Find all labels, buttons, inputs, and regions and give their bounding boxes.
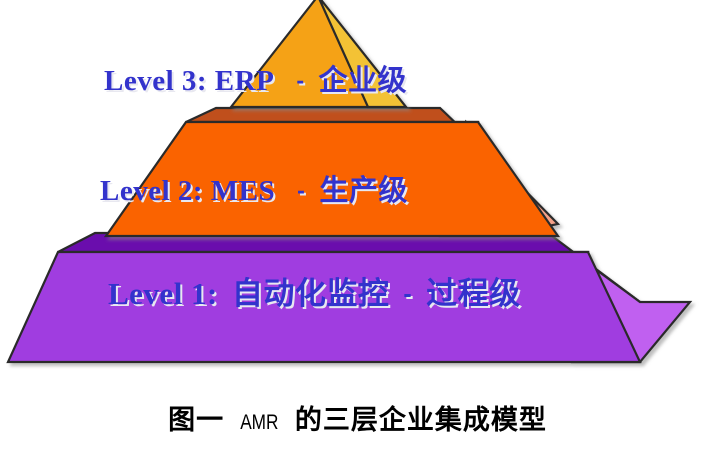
figure-caption: 图一AMR的三层企业集成模型 — [0, 398, 715, 437]
level-3-block[interactable] — [231, 0, 406, 107]
caption-acronym: AMR — [237, 411, 282, 435]
level-2-block[interactable] — [106, 108, 558, 236]
level-1-front-face — [8, 252, 640, 362]
level-1-block[interactable] — [8, 233, 690, 362]
caption-prefix: 图一 — [168, 405, 224, 436]
level-2-front-face — [106, 122, 558, 236]
figure-canvas: Level 3: ERP-企业级 Level 2: MES-生产级 Level … — [0, 0, 715, 468]
caption-suffix: 的三层企业集成模型 — [295, 405, 547, 436]
